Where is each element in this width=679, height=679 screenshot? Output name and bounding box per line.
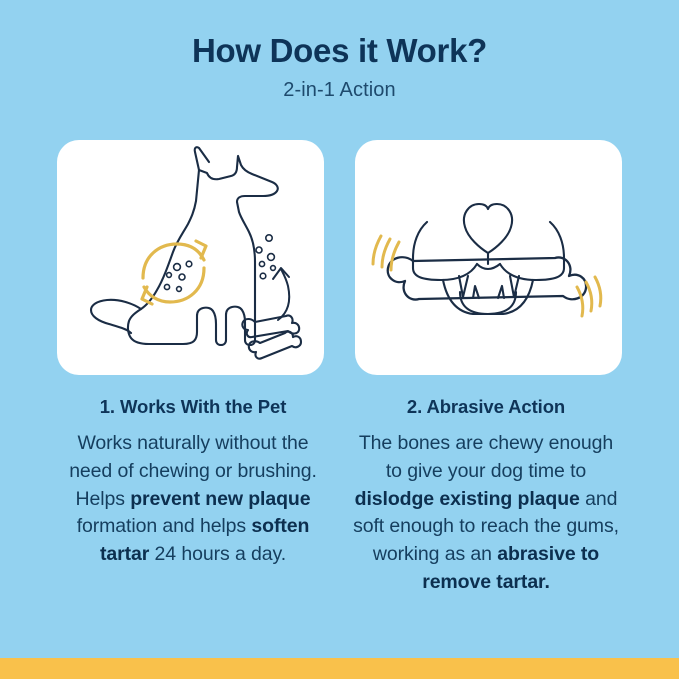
- bottom-accent-bar: [0, 658, 679, 679]
- infographic-root: How Does it Work? 2-in-1 Action: [0, 0, 679, 679]
- illustration-card-row: [57, 140, 622, 375]
- rising-plaque-bubbles-icon: [256, 235, 275, 279]
- page-title: How Does it Work?: [0, 32, 679, 70]
- column-heading-1: 1. Works With the Pet: [57, 396, 329, 418]
- column-heading-2: 2. Abrasive Action: [350, 396, 622, 418]
- illustration-card-abrasive-action: [355, 140, 622, 375]
- sitting-dog-with-bones-illustration: [57, 140, 324, 375]
- upward-arrow-icon: [273, 268, 289, 320]
- text-column-works-with-the-pet: 1. Works With the Pet Works naturally wi…: [57, 396, 329, 596]
- column-body-1: Works naturally without the need of chew…: [57, 430, 329, 568]
- header: How Does it Work? 2-in-1 Action: [0, 32, 679, 102]
- illustration-card-works-with-the-pet: [57, 140, 324, 375]
- dental-bone-icon: [242, 315, 301, 358]
- motion-lines-right-icon: [577, 277, 601, 316]
- column-body-2: The bones are chewy enough to give your …: [350, 430, 622, 596]
- text-column-abrasive-action: 2. Abrasive Action The bones are chewy e…: [350, 396, 622, 596]
- motion-lines-left-icon: [373, 236, 399, 270]
- text-column-row: 1. Works With the Pet Works naturally wi…: [57, 396, 622, 596]
- dog-snout-chewing-bone-illustration: [355, 140, 622, 375]
- page-subtitle: 2-in-1 Action: [0, 79, 679, 102]
